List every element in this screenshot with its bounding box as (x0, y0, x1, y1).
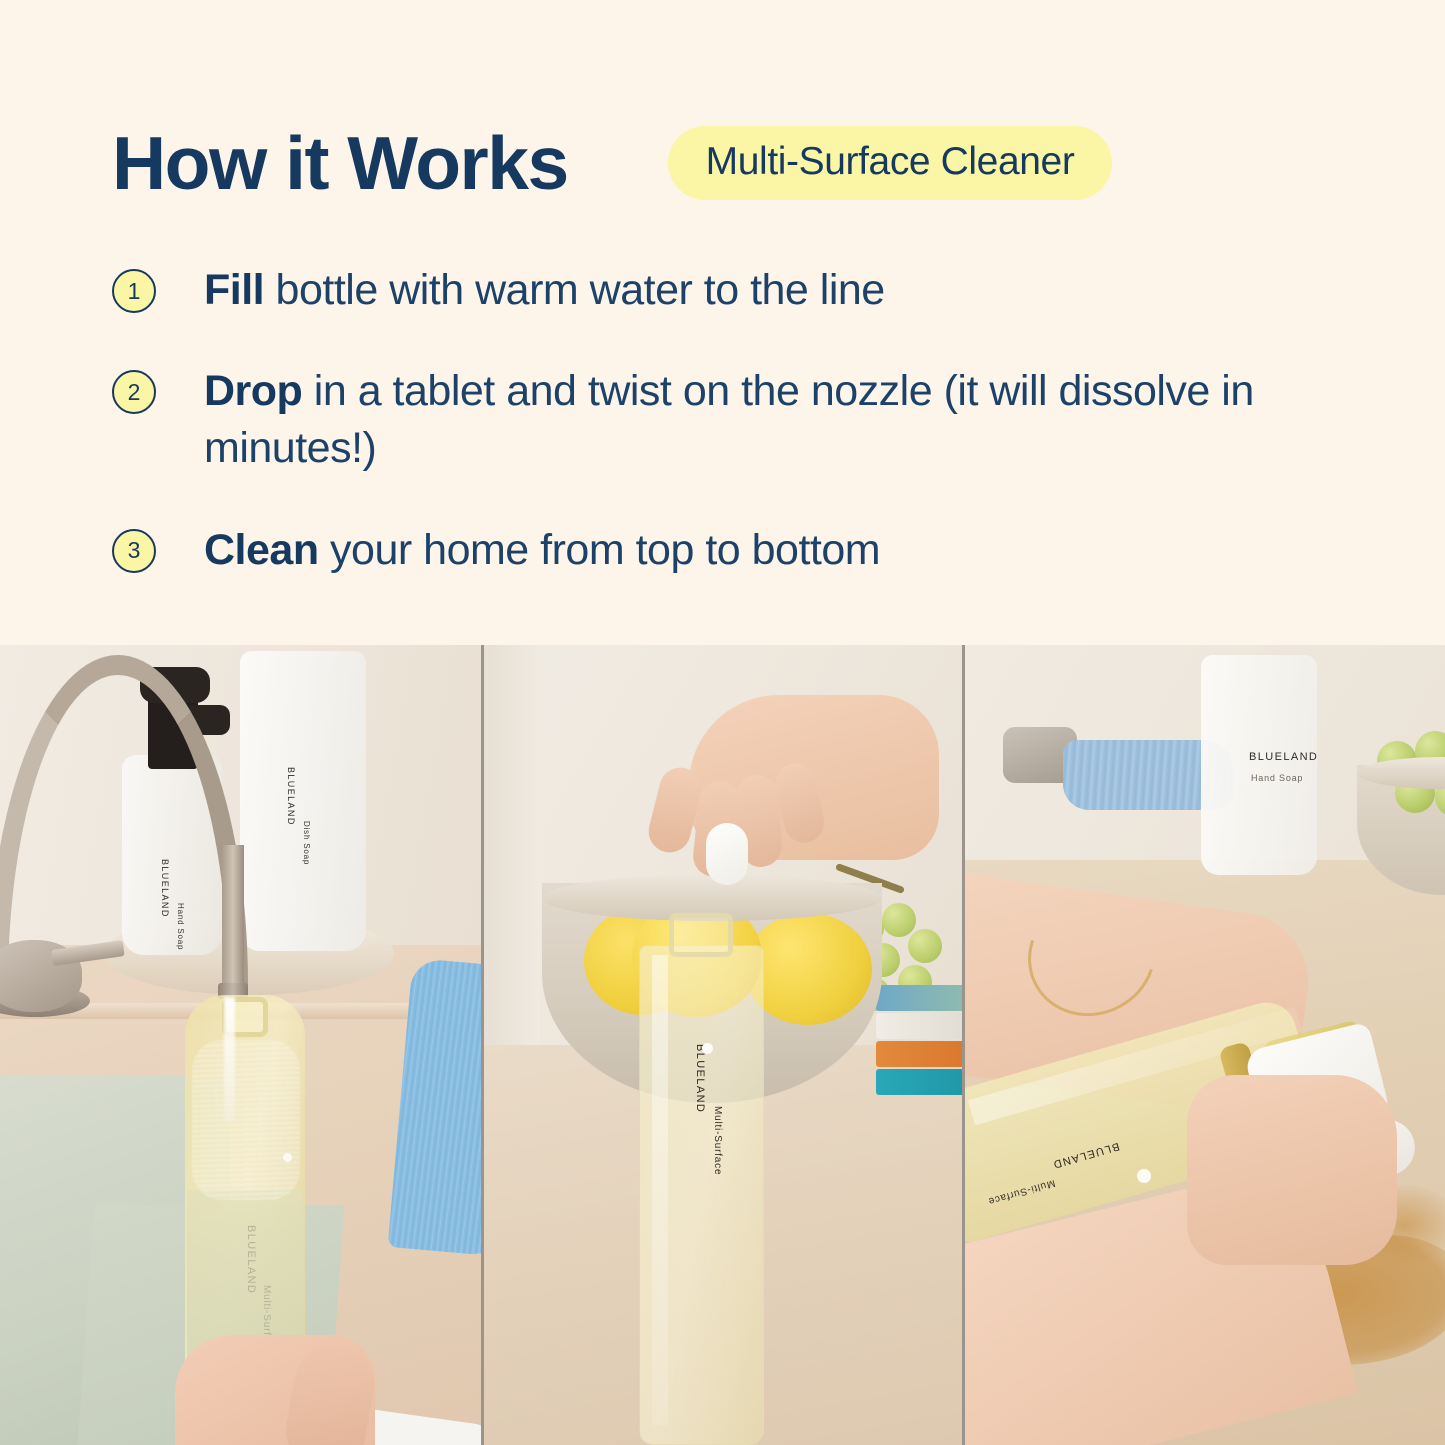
instructions-panel: How it Works Multi-Surface Cleaner 1 Fil… (0, 0, 1445, 645)
page-title: How it Works (112, 126, 568, 201)
grape (882, 903, 916, 937)
step-rest-3: your home from top to bottom (319, 526, 881, 574)
book (876, 1069, 962, 1095)
bottle-product-label: Multi-Surface (712, 1106, 723, 1175)
step-text-2: Drop in a tablet and twist on the nozzle… (204, 363, 1324, 477)
cookbook-stack (876, 985, 962, 1103)
dish-soap-brand-label: BLUELAND (286, 767, 296, 826)
faucet-spout (222, 845, 244, 990)
step-number-badge-3: 3 (112, 529, 156, 573)
bottle-fill-line-dot (1137, 1169, 1151, 1183)
photo-strip: BLUELAND Dish Soap BLUELAND Hand Soap BL… (0, 645, 1445, 1445)
book (876, 985, 962, 1011)
bottle-fill-line-dot (702, 1043, 713, 1054)
hand-soap-product-label: Hand Soap (1251, 773, 1303, 783)
bottle-brand-label: BLUELAND (694, 1044, 706, 1113)
dish-soap-bottle: BLUELAND Dish Soap (240, 651, 366, 951)
step-item-3: 3 Clean your home from top to bottom (112, 522, 1362, 579)
bottle-product-label: Multi-Surface (987, 1177, 1057, 1207)
bottle-bubbles (192, 1040, 300, 1200)
bottle-brand-label: BLUELAND (1051, 1140, 1121, 1171)
step-text-3: Clean your home from top to bottom (204, 522, 880, 579)
step-text-1: Fill bottle with warm water to the line (204, 262, 885, 319)
step-lead-2: Drop (204, 367, 302, 415)
bottle-highlight (652, 955, 668, 1425)
wall-corner (484, 645, 540, 1105)
book (876, 1013, 962, 1039)
hand-soap-brand-label: BLUELAND (1249, 751, 1318, 763)
step-number-badge-2: 2 (112, 370, 156, 414)
step-lead-1: Fill (204, 266, 264, 314)
header-row: How it Works Multi-Surface Cleaner (112, 113, 1352, 213)
photo-panel-drop: BLUELAND Multi-Surface Dropping a cleani… (484, 645, 962, 1445)
cleaning-tablet (706, 823, 748, 885)
hand-twisting-nozzle (1187, 1075, 1397, 1265)
product-badge: Multi-Surface Cleaner (668, 126, 1113, 200)
step-lead-3: Clean (204, 526, 319, 574)
step-rest-2: in a tablet and twist on the nozzle (it … (204, 367, 1254, 472)
water-stream (224, 997, 235, 1122)
grape (908, 929, 942, 963)
hand-soap-bottle: BLUELAND Hand Soap (1201, 655, 1317, 875)
step-item-2: 2 Drop in a tablet and twist on the nozz… (112, 363, 1362, 477)
step-item-1: 1 Fill bottle with warm water to the lin… (112, 262, 1362, 319)
photo-panel-fill: BLUELAND Dish Soap BLUELAND Hand Soap BL… (0, 645, 481, 1445)
bottle-fill-line-dot (283, 1153, 292, 1162)
step-number-badge-1: 1 (112, 269, 156, 313)
photo-panel-clean: BLUELAND Hand Soap BLUELAND Multi-Surfac… (965, 645, 1445, 1445)
step-rest-1: bottle with warm water to the line (264, 266, 885, 314)
bottle-neck (669, 913, 733, 957)
dish-soap-product-label: Dish Soap (302, 821, 311, 865)
steps-list: 1 Fill bottle with warm water to the lin… (112, 262, 1362, 579)
book (876, 1041, 962, 1067)
